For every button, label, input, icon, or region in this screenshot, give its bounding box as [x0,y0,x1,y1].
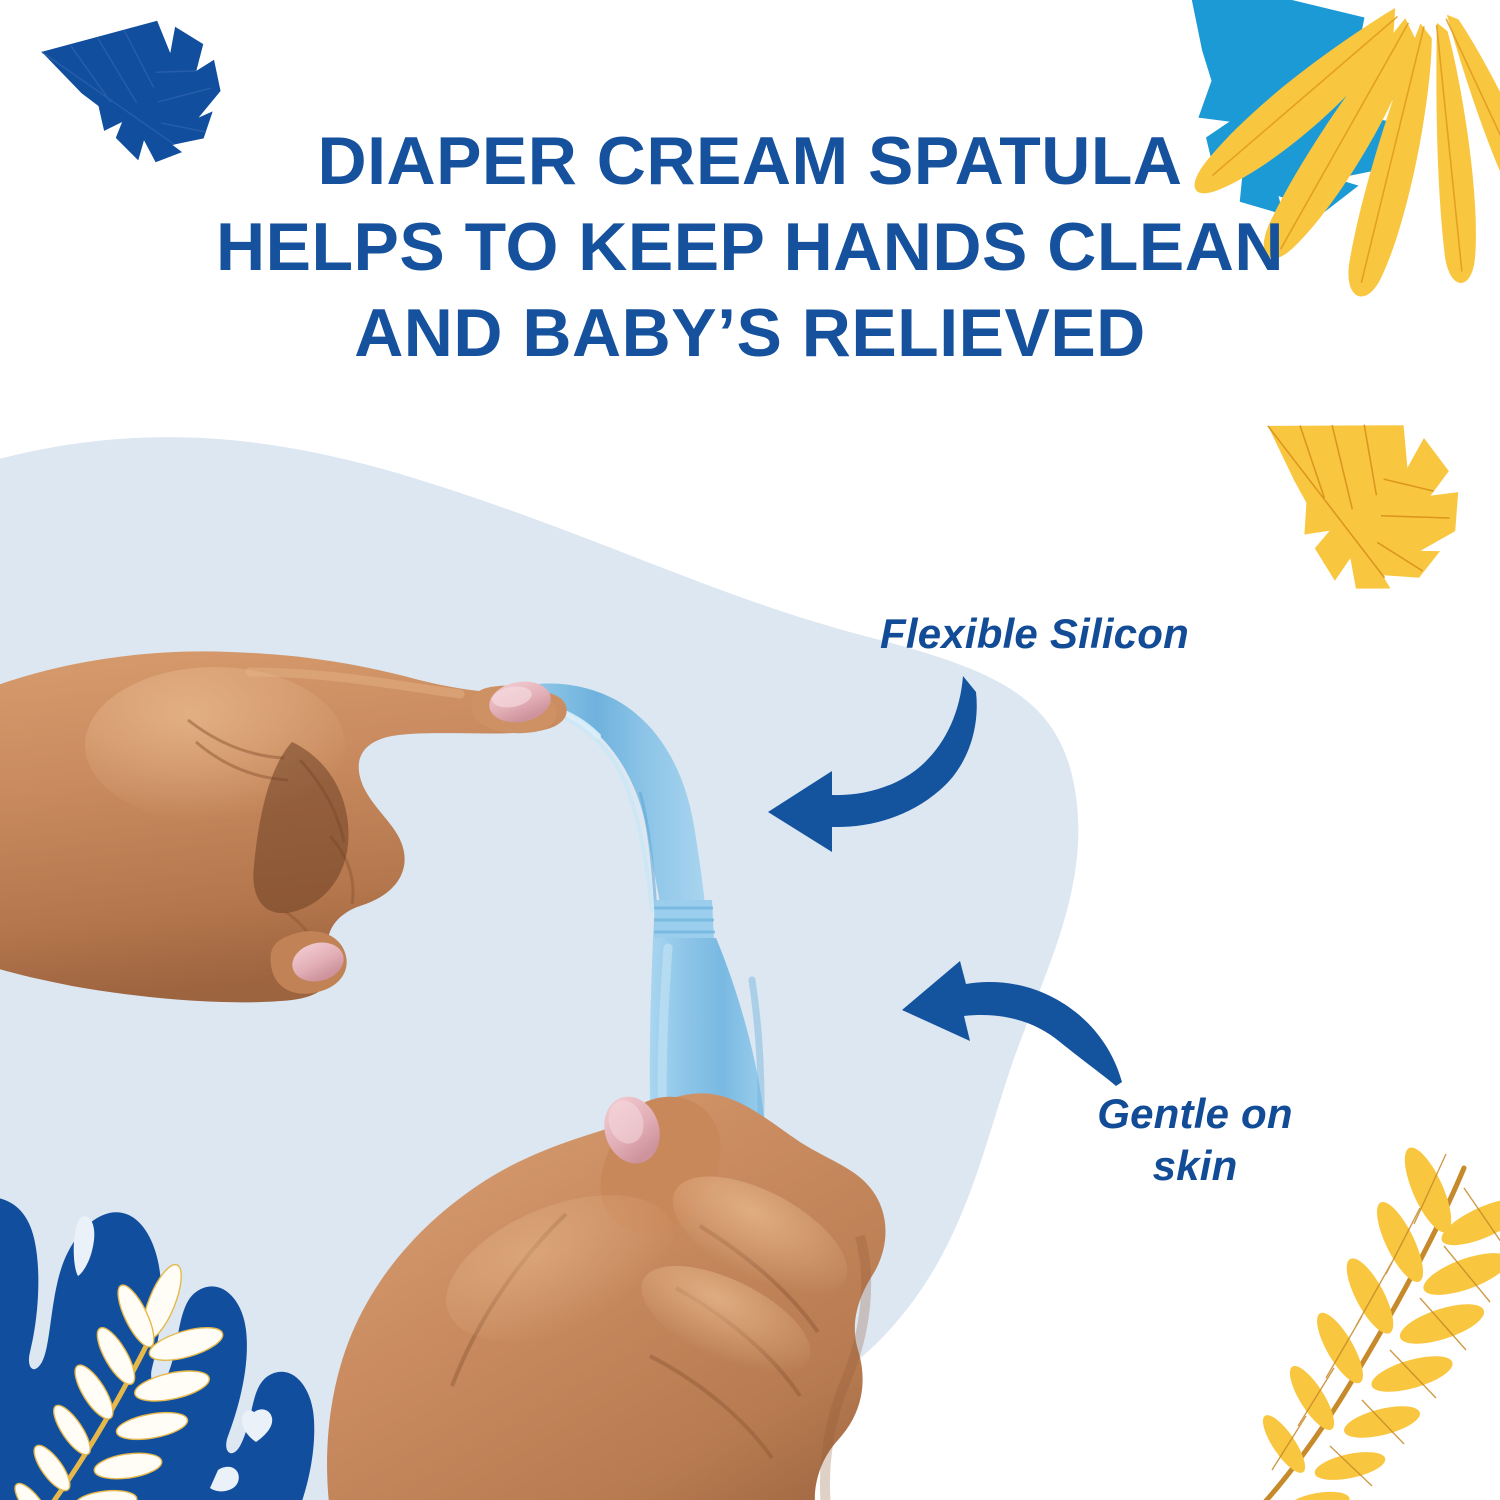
callout-gentle-line-1: Gentle on [1060,1088,1330,1140]
product-feature-image: DIAPER CREAM SPATULA HELPS TO KEEP HANDS… [0,0,1500,1500]
callout-label-flexible-silicon: Flexible Silicon [880,608,1189,660]
callout-flexible-text: Flexible Silicon [880,610,1189,657]
callout-label-gentle-on-skin: Gentle on skin [1060,1088,1330,1192]
curved-arrow-left-icon-flexible [768,676,977,852]
callout-gentle-line-2: skin [1060,1140,1330,1192]
curved-arrow-left-icon-gentle [902,961,1122,1086]
callout-arrows [0,0,1500,1500]
